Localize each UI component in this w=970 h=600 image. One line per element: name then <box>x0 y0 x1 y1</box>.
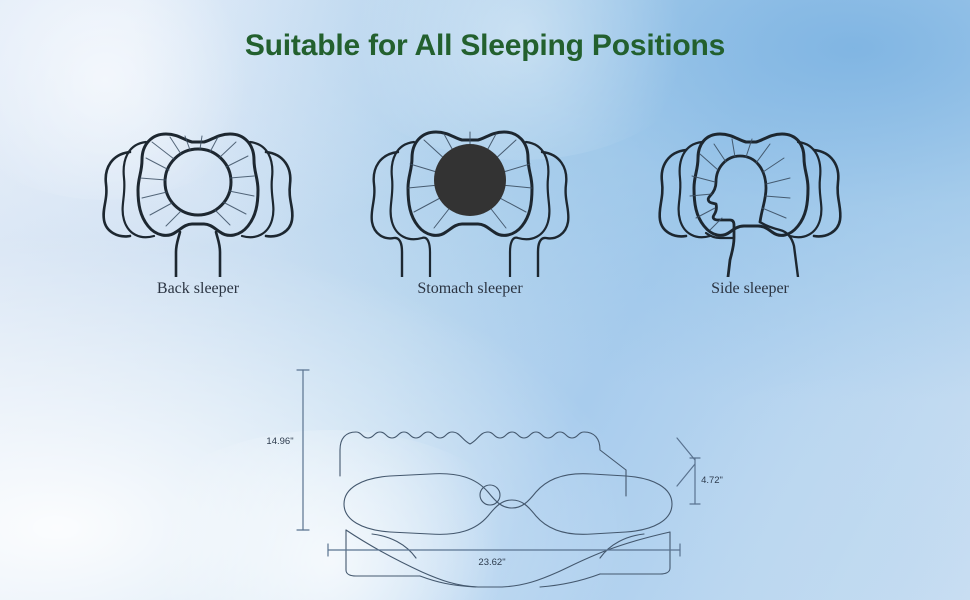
figure-label: Stomach sleeper <box>340 280 600 298</box>
width-dimension-label: 23.62" <box>478 557 505 568</box>
height-dimension-label: 14.96" <box>266 436 293 447</box>
figure-label: Back sleeper <box>68 280 328 298</box>
infographic-canvas: Suitable for All Sleeping Positions <box>0 0 970 600</box>
side-sleeper-illustration <box>620 112 880 277</box>
depth-dimension-label: 4.72" <box>701 475 723 486</box>
figure-stomach-sleeper: Stomach sleeper <box>340 112 600 312</box>
sleeping-positions-row: Back sleeper <box>0 112 970 312</box>
stomach-sleeper-illustration <box>340 112 600 277</box>
depth-dimension-line <box>677 438 700 504</box>
figure-back-sleeper: Back sleeper <box>68 112 328 312</box>
back-sleeper-illustration <box>68 112 328 277</box>
figure-side-sleeper: Side sleeper <box>620 112 880 312</box>
head-filled <box>434 144 506 216</box>
figure-label: Side sleeper <box>620 280 880 298</box>
page-title: Suitable for All Sleeping Positions <box>0 29 970 63</box>
height-dimension-line <box>297 370 309 530</box>
pillow-dimension-drawing: 14.96" 4.72" 23.62" <box>240 352 730 592</box>
width-dimension-line <box>328 544 680 556</box>
